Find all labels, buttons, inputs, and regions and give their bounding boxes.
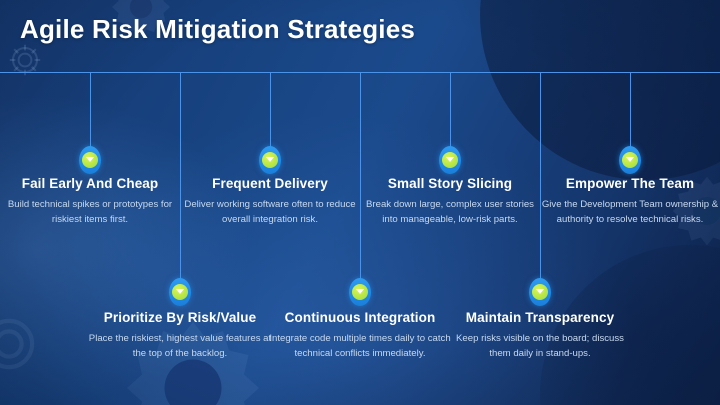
milestone-description: Place the riskiest, highest value featur… — [88, 332, 272, 362]
milestone-description: Give the Development Team ownership & au… — [540, 198, 720, 228]
milestone-title: Continuous Integration — [268, 310, 452, 325]
milestone-prioritize-by-risk-value: Prioritize By Risk/Value Place the riski… — [88, 310, 272, 362]
milestone-description: Keep risks visible on the board; discuss… — [448, 332, 632, 362]
page-title: Agile Risk Mitigation Strategies — [20, 14, 415, 45]
map-pin-icon-prioritize-by-risk-value[interactable] — [169, 278, 191, 306]
milestone-description: Build technical spikes or prototypes for… — [0, 198, 180, 228]
milestone-title: Empower The Team — [540, 176, 720, 191]
slide-canvas: Agile Risk Mitigation Strategies Fail Ea… — [0, 0, 720, 405]
map-pin-icon-empower-the-team[interactable] — [619, 146, 641, 174]
milestone-title: Maintain Transparency — [448, 310, 632, 325]
milestone-title: Frequent Delivery — [180, 176, 360, 191]
map-pin-icon-frequent-delivery[interactable] — [259, 146, 281, 174]
map-pin-icon-maintain-transparency[interactable] — [529, 278, 551, 306]
chevron-down-icon — [266, 157, 274, 162]
milestone-description: Integrate code multiple times daily to c… — [268, 332, 452, 362]
gear-icon — [0, 309, 44, 379]
milestone-small-story-slicing: Small Story Slicing Break down large, co… — [360, 176, 540, 228]
milestone-continuous-integration: Continuous Integration Integrate code mu… — [268, 310, 452, 362]
map-pin-icon-fail-early-and-cheap[interactable] — [79, 146, 101, 174]
milestone-description: Deliver working software often to reduce… — [180, 198, 360, 228]
milestone-title: Small Story Slicing — [360, 176, 540, 191]
chevron-down-icon — [446, 157, 454, 162]
chevron-down-icon — [356, 289, 364, 294]
decorative-circle-top-right — [480, 0, 720, 180]
milestone-empower-the-team: Empower The Team Give the Development Te… — [540, 176, 720, 228]
milestone-frequent-delivery: Frequent Delivery Deliver working softwa… — [180, 176, 360, 228]
milestone-title: Prioritize By Risk/Value — [88, 310, 272, 325]
milestone-title: Fail Early And Cheap — [0, 176, 180, 191]
chevron-down-icon — [86, 157, 94, 162]
chevron-down-icon — [626, 157, 634, 162]
gear-icon — [5, 40, 45, 80]
map-pin-icon-small-story-slicing[interactable] — [439, 146, 461, 174]
chevron-down-icon — [176, 289, 184, 294]
map-pin-icon-continuous-integration[interactable] — [349, 278, 371, 306]
chevron-down-icon — [536, 289, 544, 294]
milestone-maintain-transparency: Maintain Transparency Keep risks visible… — [448, 310, 632, 362]
milestone-fail-early-and-cheap: Fail Early And Cheap Build technical spi… — [0, 176, 180, 228]
milestone-description: Break down large, complex user stories i… — [360, 198, 540, 228]
